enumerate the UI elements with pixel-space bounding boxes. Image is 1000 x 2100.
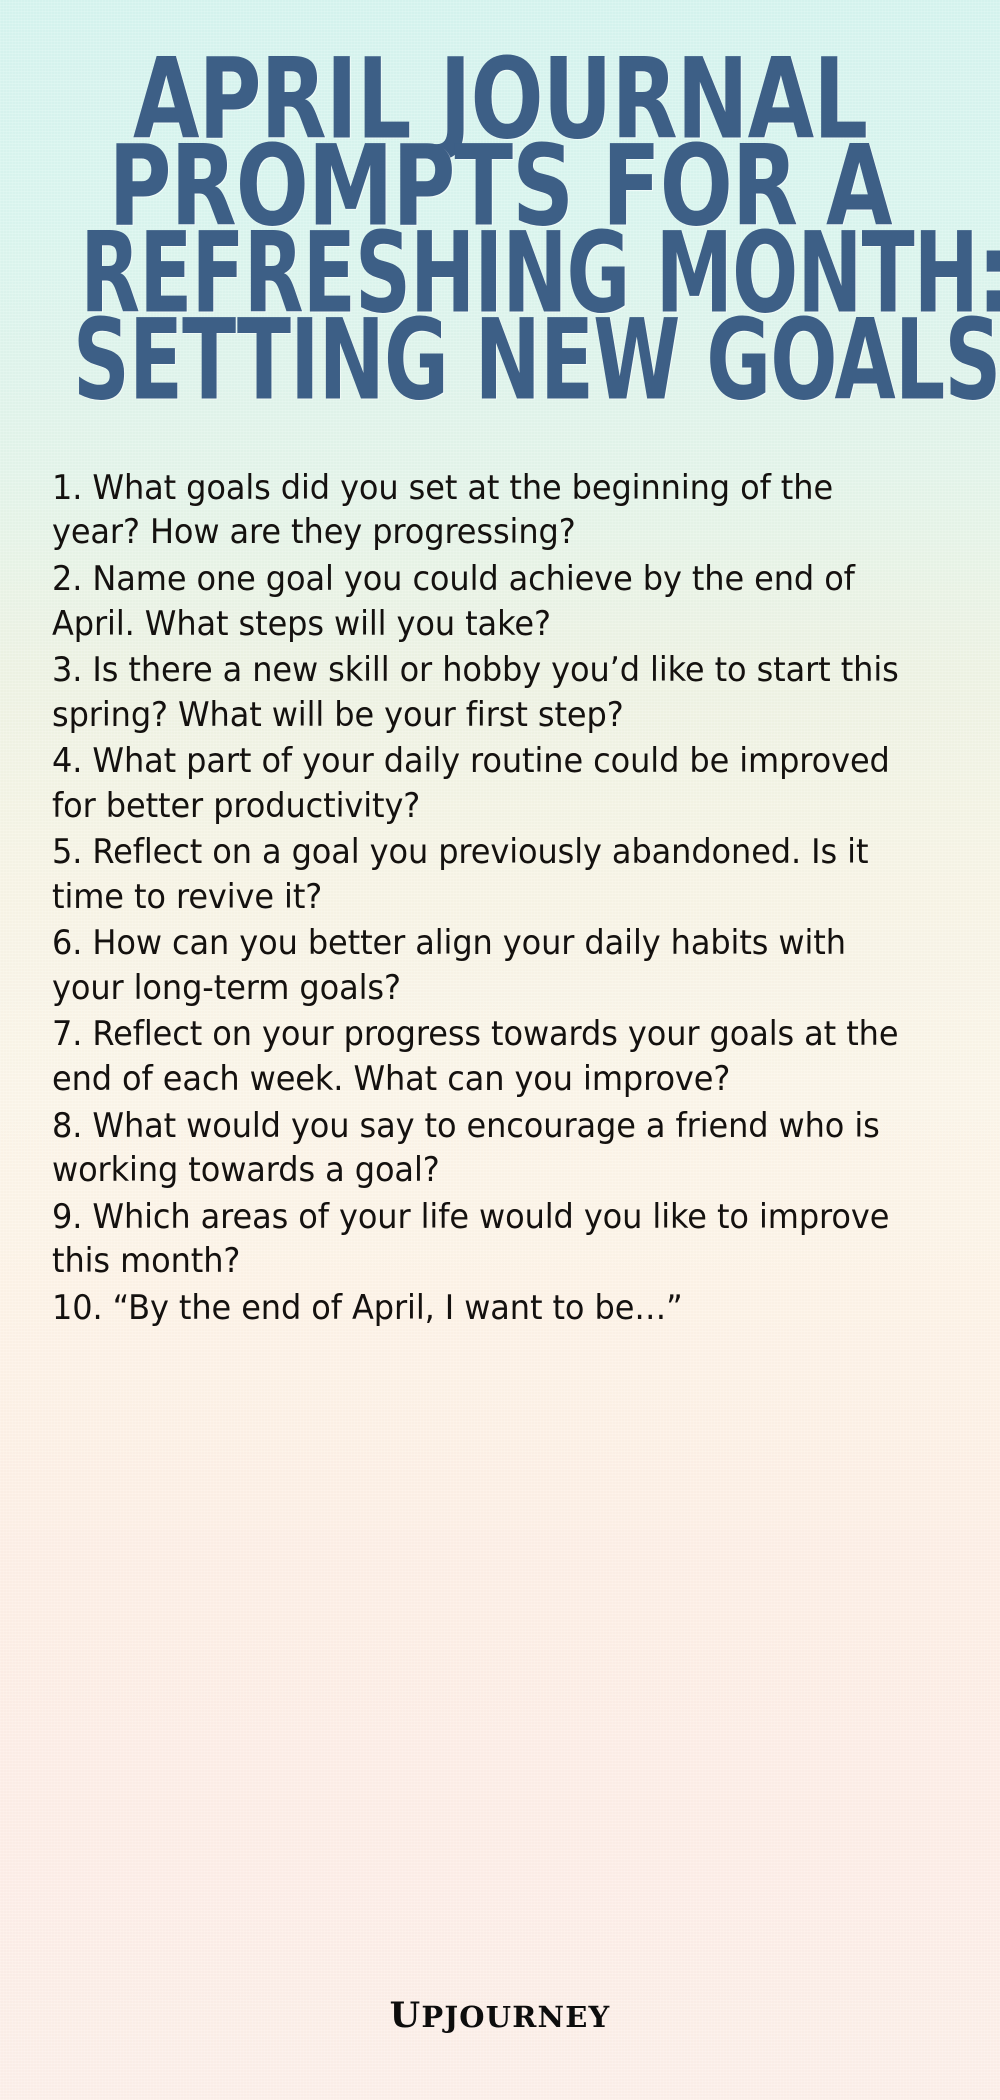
- list-item: 4. What part of your daily routine could…: [52, 739, 910, 828]
- list-item: 2. Name one goal you could achieve by th…: [52, 557, 910, 646]
- list-item: 1. What goals did you set at the beginni…: [52, 466, 910, 555]
- list-item: 3. Is there a new skill or hobby you’d l…: [52, 648, 910, 737]
- title-line-4: SETTING NEW GOALS: [73, 310, 927, 414]
- brand-wordmark: UPJOURNEY: [390, 1995, 611, 2036]
- poster-title: APRIL JOURNAL PROMPTS FOR A REFRESHING M…: [0, 0, 1000, 402]
- brand-remainder: PJOURNEY: [421, 2000, 610, 2034]
- poster-canvas: APRIL JOURNAL PROMPTS FOR A REFRESHING M…: [0, 0, 1000, 2100]
- list-item: 7. Reflect on your progress towards your…: [52, 1012, 910, 1101]
- footer: UPJOURNEY: [0, 1995, 1000, 2036]
- journal-prompt-list: 1. What goals did you set at the beginni…: [0, 466, 1000, 1330]
- list-item: 9. Which areas of your life would you li…: [52, 1195, 910, 1284]
- list-item: 10. “By the end of April, I want to be…”: [52, 1286, 910, 1331]
- list-item: 6. How can you better align your daily h…: [52, 921, 910, 1010]
- list-item: 8. What would you say to encourage a fri…: [52, 1104, 910, 1193]
- list-item: 5. Reflect on a goal you previously aban…: [52, 830, 910, 919]
- poster-content: APRIL JOURNAL PROMPTS FOR A REFRESHING M…: [0, 0, 1000, 2100]
- brand-initial: U: [390, 1995, 422, 2036]
